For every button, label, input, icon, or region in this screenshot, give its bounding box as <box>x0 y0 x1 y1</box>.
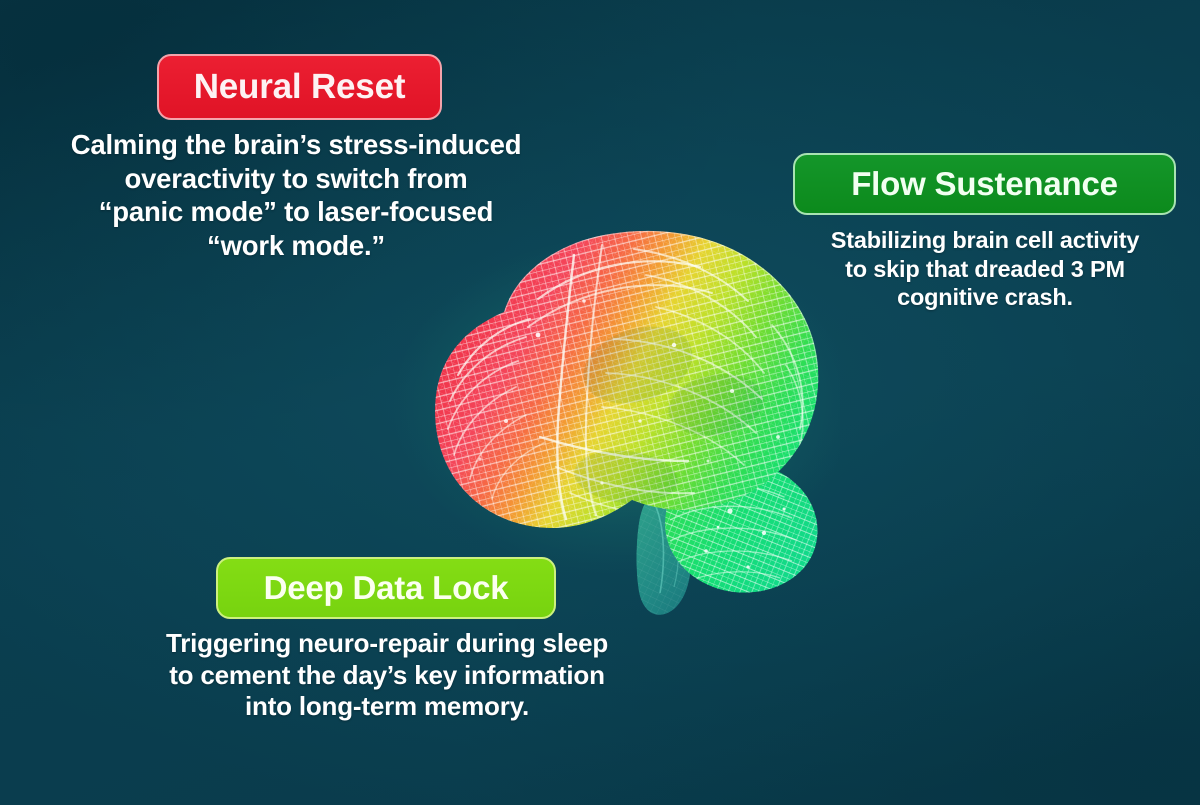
description-line: to skip that dreaded 3 PM <box>789 255 1181 284</box>
infographic-poster: Neural Reset Calming the brain’s stress-… <box>0 0 1200 805</box>
description-line: into long-term memory. <box>92 691 682 723</box>
description-line: “panic mode” to laser-focused <box>20 195 572 229</box>
badge-deep-data-lock[interactable]: Deep Data Lock <box>216 557 556 619</box>
description-line: “work mode.” <box>20 229 572 263</box>
description-line: cognitive crash. <box>789 283 1181 312</box>
description-neural-reset: Calming the brain’s stress-induced overa… <box>20 128 572 262</box>
badge-flow-sustenance[interactable]: Flow Sustenance <box>793 153 1176 215</box>
description-deep-data-lock: Triggering neuro-repair during sleep to … <box>92 628 682 723</box>
description-line: Calming the brain’s stress-induced <box>20 128 572 162</box>
description-line: Triggering neuro-repair during sleep <box>92 628 682 660</box>
description-line: overactivity to switch from <box>20 162 572 196</box>
description-line: Stabilizing brain cell activity <box>789 226 1181 255</box>
description-line: to cement the day’s key information <box>92 660 682 692</box>
description-flow-sustenance: Stabilizing brain cell activity to skip … <box>789 226 1181 312</box>
badge-neural-reset[interactable]: Neural Reset <box>157 54 442 120</box>
